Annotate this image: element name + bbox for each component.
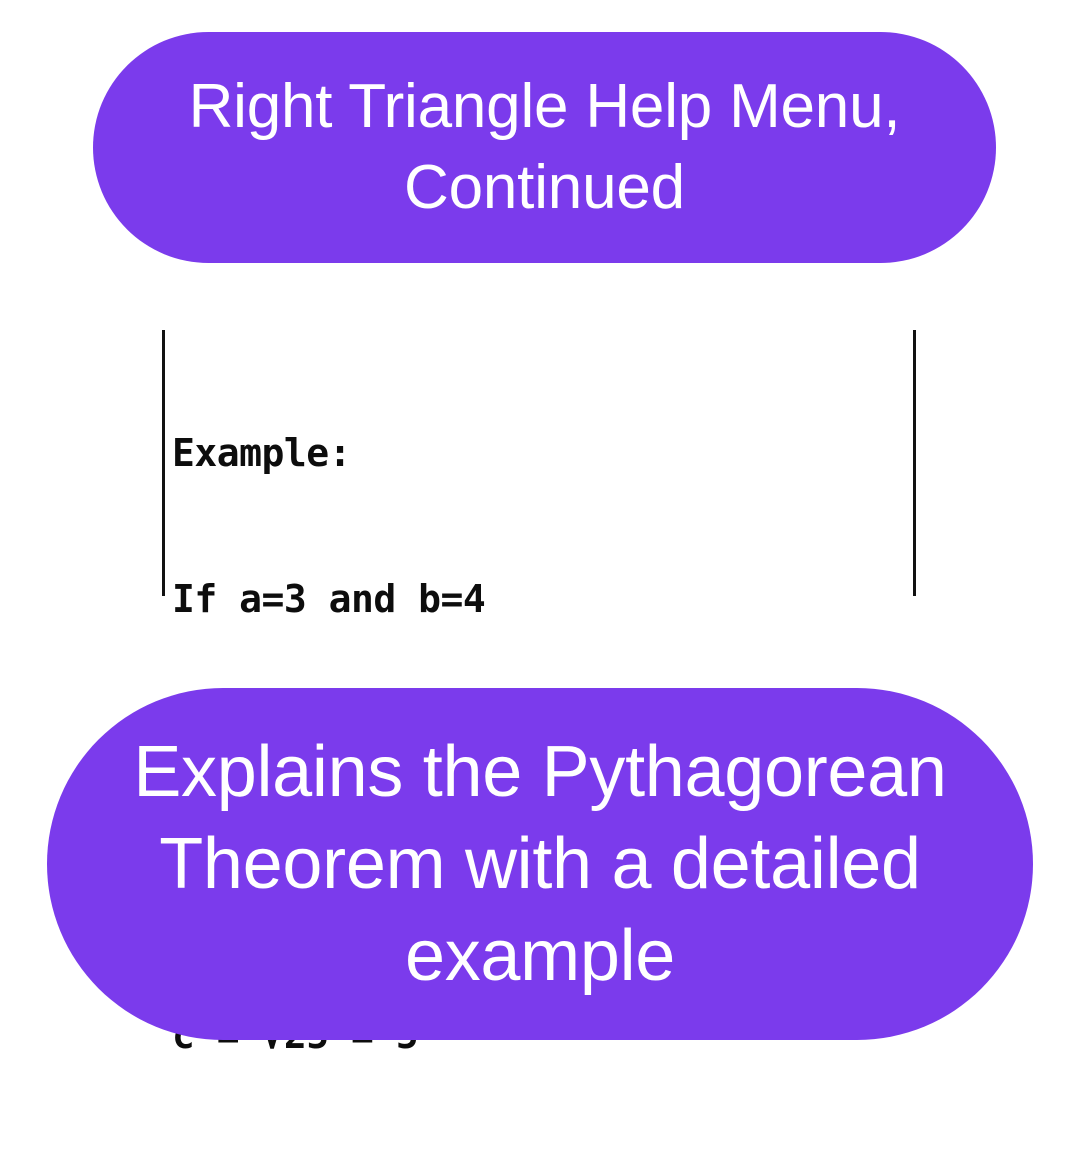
caption-text: Explains the Pythagorean Theorem with a … [95, 726, 985, 1002]
page-title: Right Triangle Help Menu, Continued [189, 67, 901, 228]
left-vertical-rule [162, 330, 165, 596]
example-code-block: Example: If a=3 and b=4 then c² = 3² + 4… [162, 330, 916, 596]
bottom-caption-banner: Explains the Pythagorean Theorem with a … [47, 688, 1033, 1040]
top-title-banner: Right Triangle Help Menu, Continued [93, 32, 996, 263]
example-line-1: Example: [172, 429, 552, 478]
slide-canvas: Right Triangle Help Menu, Continued Exam… [0, 0, 1080, 1080]
example-line-2: If a=3 and b=4 [172, 575, 552, 624]
right-vertical-rule [913, 330, 916, 596]
